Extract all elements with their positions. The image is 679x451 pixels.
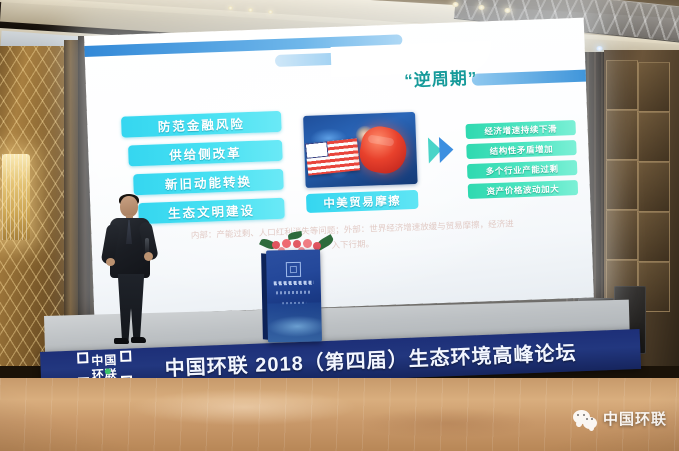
wall-panel bbox=[638, 162, 670, 212]
wall-panel bbox=[606, 160, 638, 210]
logo-corner bbox=[120, 351, 131, 362]
ceiling-spotlight bbox=[504, 8, 511, 13]
wechat-dot bbox=[591, 418, 593, 420]
wall-panel bbox=[638, 212, 670, 262]
podium-text-line bbox=[274, 281, 314, 286]
ceiling-spotlight bbox=[452, 2, 459, 7]
wechat-watermark: 中国环联 bbox=[573, 408, 667, 429]
podium-text-line bbox=[282, 302, 306, 305]
wall-panel bbox=[606, 210, 638, 260]
slide-center-figure: 中美贸易摩擦 bbox=[303, 112, 418, 213]
speaker-left-hand bbox=[106, 258, 115, 266]
logo-corner bbox=[77, 352, 88, 363]
flower-icon bbox=[303, 239, 312, 248]
speaker-person bbox=[104, 196, 158, 352]
wechat-dot bbox=[586, 418, 588, 420]
leaf-icon bbox=[288, 231, 303, 240]
watermark-account-name: 中国环联 bbox=[603, 408, 667, 429]
slide-pill-left: 生态文明建设 bbox=[138, 198, 285, 224]
wall-panel bbox=[638, 62, 670, 112]
podium bbox=[266, 249, 322, 342]
slide-pill-left: 防范金融风险 bbox=[121, 111, 282, 138]
ceiling-spotlight bbox=[478, 5, 485, 10]
us-flag-icon bbox=[305, 138, 360, 175]
podium-front-panel bbox=[266, 249, 322, 342]
trade-conflict-image bbox=[303, 112, 418, 188]
ceiling-spotlight bbox=[248, 8, 253, 12]
speaker-shoe bbox=[131, 337, 146, 343]
ceiling-spotlight bbox=[228, 6, 233, 10]
wall-panel bbox=[606, 110, 638, 160]
projection-screen: “逆周期” 防范金融风险 供给侧改革 新旧动能转换 生态文明建设 中美贸易摩擦 … bbox=[84, 18, 594, 316]
speaker-right-hand bbox=[144, 252, 153, 261]
speaker-trousers bbox=[116, 274, 146, 340]
slide-right-column: 经济增速持续下滑 结构性矛盾增加 多个行业产能过剩 资产价格波动加大 bbox=[465, 120, 578, 204]
podium-text-line bbox=[276, 291, 312, 294]
wall-panel-grid bbox=[606, 60, 676, 310]
speaker-shoe bbox=[114, 338, 129, 344]
slide-center-caption: 中美贸易摩擦 bbox=[306, 190, 419, 213]
slide-pill-right: 多个行业产能过剩 bbox=[467, 160, 577, 179]
chevron-right-icon bbox=[428, 132, 469, 167]
ceiling-spotlight bbox=[268, 10, 273, 14]
wechat-icon bbox=[573, 409, 597, 429]
slide-pill-right: 结构性矛盾增加 bbox=[466, 140, 576, 159]
conference-stage-photo: “逆周期” 防范金融风险 供给侧改革 新旧动能转换 生态文明建设 中美贸易摩擦 … bbox=[0, 0, 679, 451]
wall-sconce-light bbox=[2, 154, 30, 240]
wall-panel bbox=[638, 112, 670, 162]
ceiling-spotlight bbox=[596, 46, 603, 51]
podium-emblem-icon bbox=[286, 262, 301, 277]
chevron-right-icon bbox=[439, 137, 454, 163]
speaker-head bbox=[120, 196, 138, 217]
slide-pill-left: 新旧动能转换 bbox=[133, 169, 284, 195]
slide-pill-right: 经济增速持续下滑 bbox=[465, 120, 575, 139]
slide-pill-right: 资产价格波动加大 bbox=[468, 180, 578, 199]
slide-pill-left: 供给侧改革 bbox=[128, 140, 283, 167]
wall-panel bbox=[606, 60, 638, 110]
